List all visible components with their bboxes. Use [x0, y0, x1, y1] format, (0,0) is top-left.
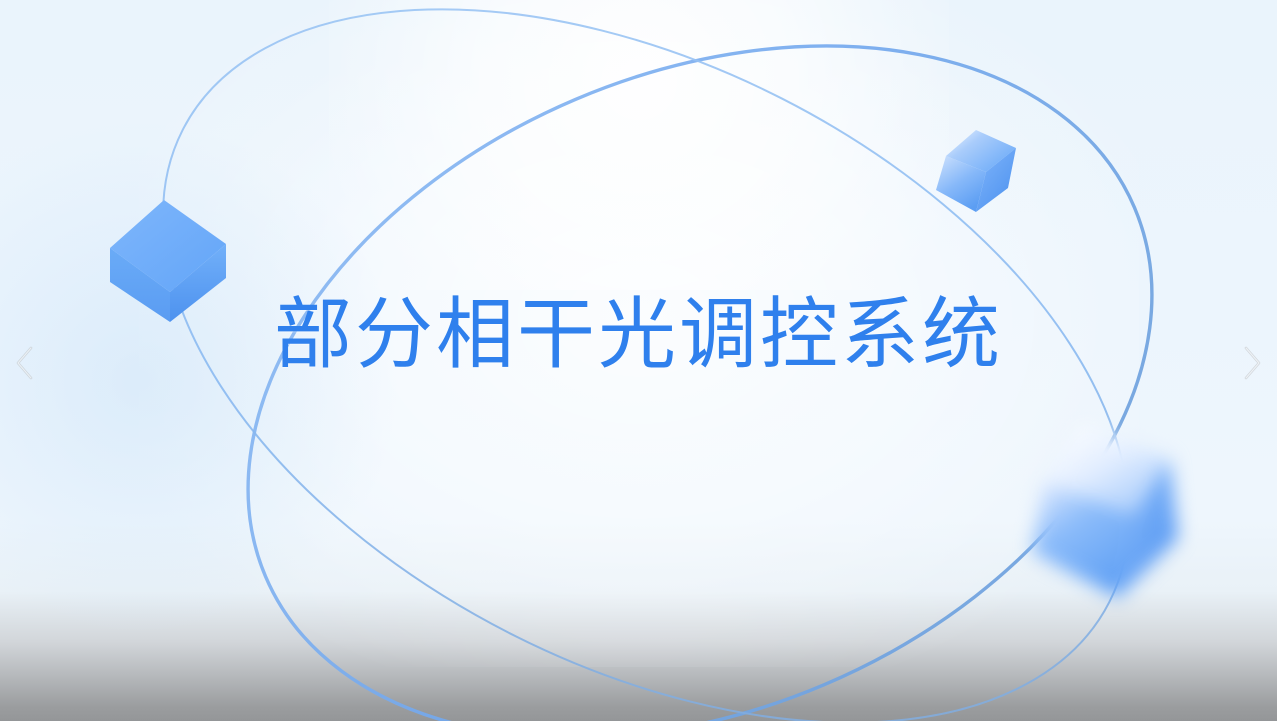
next-slide-button[interactable]	[1229, 337, 1275, 389]
chevron-right-icon	[1239, 343, 1265, 383]
page-title: 部分相干光调控系统	[0, 296, 1277, 374]
chevron-left-icon	[12, 343, 38, 383]
presentation-slide: 部分相干光调控系统	[0, 0, 1277, 721]
prev-slide-button[interactable]	[2, 337, 48, 389]
